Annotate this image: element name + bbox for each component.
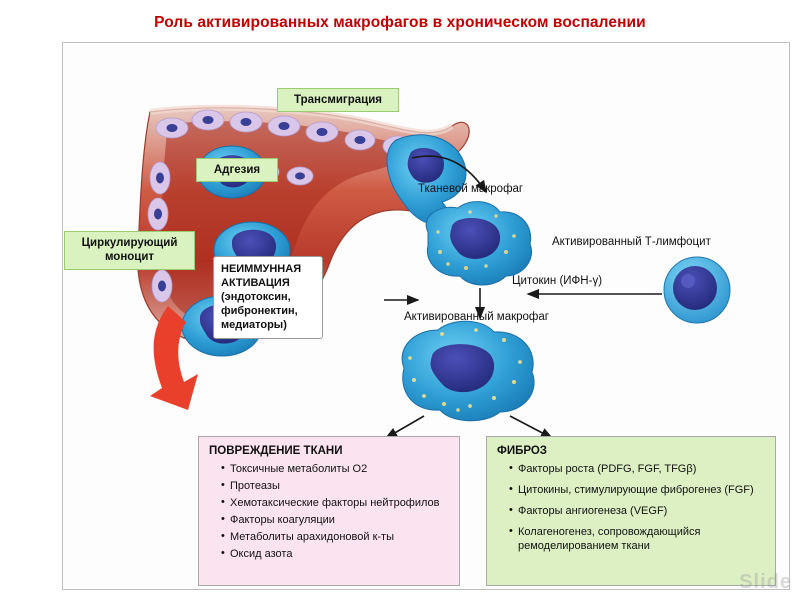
t-lymphocyte-cell [664,257,730,323]
list-item: Факторы коагуляции [221,513,449,527]
tissue-macrophage-cell [426,202,531,285]
list-item: Протеазы [221,479,449,493]
diagram-canvas: Роль активированных макрофагов в хрониче… [0,0,800,600]
fibrosis-list: Факторы роста (PDFG, FGF, TFGβ) Цитокины… [497,462,765,553]
label-activated-t-lymphocyte: Активированный Т-лимфоцит [552,235,711,250]
list-item: Факторы ангиогенеза (VEGF) [509,504,765,518]
list-item: Метаболиты арахидоновой к-ты [221,530,449,544]
label-adhesion: Адгезия [196,158,278,182]
tissue-damage-list: Токсичные метаболиты О2 Протеазы Хемотак… [209,462,449,561]
list-item: Хемотаксические факторы нейтрофилов [221,496,449,510]
label-activated-macrophage: Активированный макрофаг [404,310,549,325]
nonimmune-line-1: НЕИММУННАЯ [221,262,315,276]
fibrosis-heading: ФИБРОЗ [497,445,765,457]
tissue-damage-panel: ПОВРЕЖДЕНИЕ ТКАНИ Токсичные метаболиты О… [198,436,460,586]
fibrosis-panel: ФИБРОЗ Факторы роста (PDFG, FGF, TFGβ) Ц… [486,436,776,586]
list-item: Колагеногенез, сопровождающийся ремодели… [509,525,765,553]
label-transmigration: Трансмиграция [277,88,399,112]
activated-macrophage-cell [402,321,534,421]
list-item: Токсичные метаболиты О2 [221,462,449,476]
arrow-to-fibrosis [510,416,552,438]
list-item: Цитокины, стимулирующие фиброгенез (FGF) [509,483,765,497]
tissue-damage-heading: ПОВРЕЖДЕНИЕ ТКАНИ [209,445,449,457]
nonimmune-line-5: медиаторы) [221,318,315,332]
nonimmune-activation-box: НЕИММУННАЯ АКТИВАЦИЯ (эндотоксин, фиброн… [213,256,323,339]
nonimmune-line-3: (эндотоксин, [221,290,315,304]
label-cytokine: Цитокин (ИФН-γ) [512,274,602,289]
label-tissue-macrophage: Тканевой макрофаг [418,182,523,197]
arrow-to-tissue-damage [386,416,424,438]
list-item: Оксид азота [221,547,449,561]
list-item: Факторы роста (PDFG, FGF, TFGβ) [509,462,765,476]
nonimmune-line-2: АКТИВАЦИЯ [221,276,315,290]
nonimmune-line-4: фибронектин, [221,304,315,318]
label-circulating-monocyte: Циркулирующий моноцит [64,231,195,270]
